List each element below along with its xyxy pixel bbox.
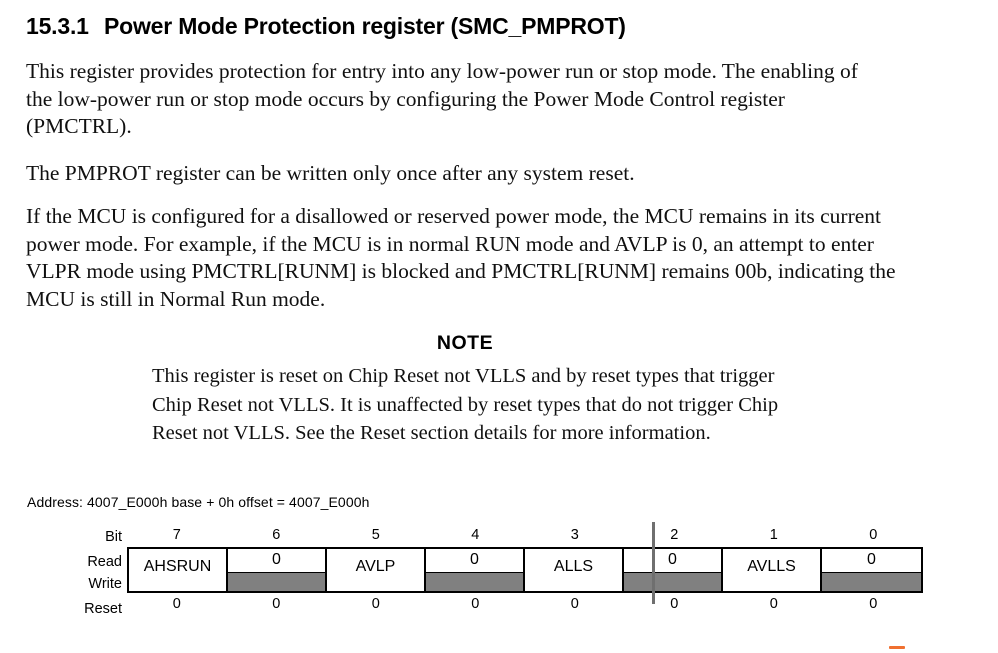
register-reset-row: 0 0 0 0 0 0 0 0 — [127, 593, 923, 617]
row-label-bit: Bit — [0, 529, 122, 545]
note-text: This register is reset on Chip Reset not… — [152, 362, 800, 448]
section-title: Power Mode Protection register (SMC_PMPR… — [104, 13, 626, 39]
paragraph-write-once: The PMPROT register can be written only … — [26, 160, 888, 188]
register-field-name: 0 — [624, 551, 721, 569]
register-field-cell: 0 — [426, 549, 525, 591]
register-field-name: AVLLS — [723, 558, 820, 576]
bit-number: 1 — [724, 525, 824, 547]
row-label-write: Write — [0, 576, 122, 592]
register-reset-value: 0 — [824, 593, 924, 617]
register-field-name: AVLP — [327, 558, 424, 576]
register-address-line: Address: 4007_E000h base + 0h offset = 4… — [27, 494, 369, 510]
register-reset-value: 0 — [426, 593, 526, 617]
register-field-cell: 0 — [624, 549, 723, 591]
register-reset-value: 0 — [724, 593, 824, 617]
register-reset-value: 0 — [127, 593, 227, 617]
register-field-name: ALLS — [525, 558, 622, 576]
bit-number: 3 — [525, 525, 625, 547]
bit-number: 7 — [127, 525, 227, 547]
register-field-cell: AVLLS — [723, 549, 822, 591]
register-field-cell: ALLS — [525, 549, 624, 591]
byte-boundary-divider — [652, 522, 655, 604]
paragraph-intro: This register provides protection for en… — [26, 58, 888, 141]
row-label-reset: Reset — [0, 601, 122, 617]
row-label-read: Read — [0, 554, 122, 570]
register-bit-diagram: Bit Read Write Reset 7 6 5 4 3 2 1 0 AHS… — [0, 525, 998, 625]
bit-number: 0 — [824, 525, 924, 547]
bit-number: 4 — [426, 525, 526, 547]
register-field-cell: AVLP — [327, 549, 426, 591]
register-field-cell: 0 — [228, 549, 327, 591]
section-number: 15.3.1 — [26, 12, 104, 40]
bit-number: 6 — [227, 525, 327, 547]
register-field-row: AHSRUN 0 AVLP 0 ALLS 0 AVLLS 0 — [127, 547, 923, 593]
register-reset-value: 0 — [625, 593, 725, 617]
register-field-name: 0 — [426, 551, 523, 569]
register-grid: 7 6 5 4 3 2 1 0 AHSRUN 0 AVLP 0 ALLS — [127, 525, 923, 617]
bit-number: 5 — [326, 525, 426, 547]
register-field-cell: AHSRUN — [129, 549, 228, 591]
register-field-cell: 0 — [822, 549, 921, 591]
page-title: 15.3.1Power Mode Protection register (SM… — [26, 12, 626, 40]
register-reset-value: 0 — [326, 593, 426, 617]
bit-number: 2 — [625, 525, 725, 547]
register-field-name: 0 — [822, 551, 921, 569]
register-reset-value: 0 — [525, 593, 625, 617]
register-reset-value: 0 — [227, 593, 327, 617]
paragraph-disallowed-mode: If the MCU is configured for a disallowe… — [26, 203, 926, 313]
page-edge-artifact — [889, 646, 905, 649]
register-field-name: AHSRUN — [129, 558, 226, 576]
note-heading: NOTE — [0, 332, 930, 355]
register-bit-number-row: 7 6 5 4 3 2 1 0 — [127, 525, 923, 547]
register-field-name: 0 — [228, 551, 325, 569]
